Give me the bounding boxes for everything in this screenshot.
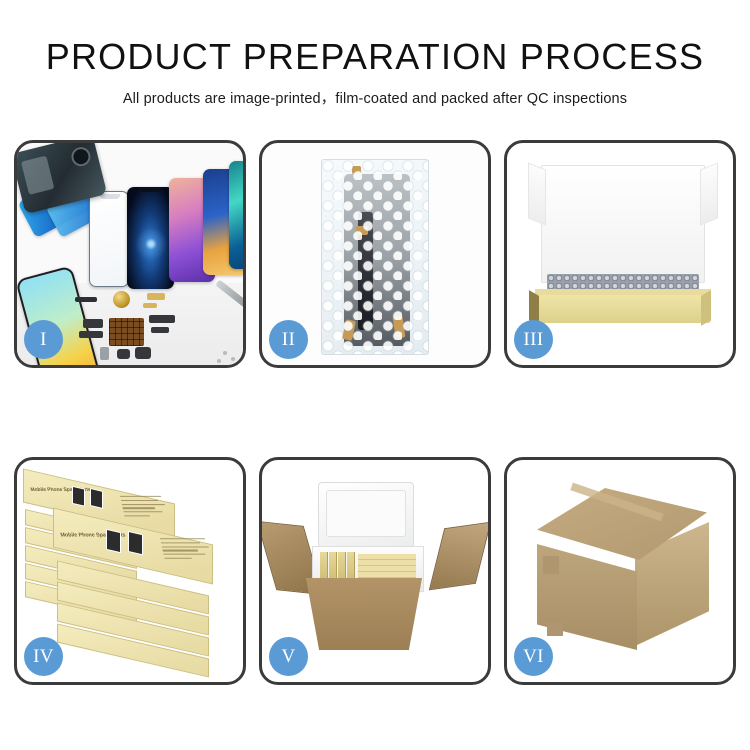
process-panel-2[interactable]: II [259, 140, 491, 368]
bubble-wrap-bag-icon [321, 159, 429, 355]
box-right-edge-icon [701, 290, 711, 326]
step-badge-4: IV [24, 637, 63, 676]
process-panel-1[interactable]: I [14, 140, 246, 368]
box-phone-image [90, 488, 103, 509]
step-badge-6: VI [514, 637, 553, 676]
flex-cable-icon [83, 319, 103, 328]
box-phone-image [128, 531, 143, 555]
box-spec-lines [120, 496, 170, 519]
logic-board-icon [109, 318, 144, 346]
process-grid: I II [14, 140, 736, 685]
yellow-box-front-icon [535, 295, 711, 323]
camera-module-icon [117, 349, 130, 359]
step-badge-1: I [24, 320, 63, 359]
flex-cable-icon [149, 315, 175, 323]
screen-protector-icon [89, 191, 129, 287]
foam-lid-icon [541, 165, 705, 283]
step-badge-3: III [514, 320, 553, 359]
carton-body-icon [298, 578, 430, 650]
step-badge-2: II [269, 320, 308, 359]
speaker-coil-icon [113, 291, 130, 308]
bubble-texture [322, 160, 428, 354]
carton-tape-icon [547, 622, 563, 636]
wallpaper-burst-icon [132, 225, 170, 263]
process-panel-6[interactable]: VI [504, 457, 736, 685]
phone-screen-teal-icon [229, 161, 246, 269]
page-title: PRODUCT PREPARATION PROCESS [0, 38, 750, 76]
phone-screen-dark-icon [127, 187, 174, 289]
step-badge-5: V [269, 637, 308, 676]
screw-icon [231, 357, 235, 361]
process-panel-4[interactable]: Mobile Phone Spare Parts Mobile Phone Sp… [14, 457, 246, 685]
vibrator-icon [135, 347, 151, 359]
box-spec-lines [160, 538, 214, 561]
process-panel-3[interactable]: III [504, 140, 736, 368]
flex-cable-icon [79, 331, 103, 338]
sim-tray-icon [100, 347, 109, 360]
earpiece-chip-icon [75, 297, 97, 302]
notch-icon [139, 187, 161, 192]
box-phone-image [106, 529, 121, 553]
carton-tape-icon [543, 556, 559, 574]
foam-lid-icon [318, 482, 414, 548]
screw-icon [223, 351, 227, 355]
gold-flex-icon [147, 293, 165, 300]
box-phone-image [72, 486, 85, 507]
carton-flap-right-icon [429, 522, 491, 591]
page-root: PRODUCT PREPARATION PROCESS All products… [0, 0, 750, 750]
gold-flex-icon [143, 303, 157, 308]
flex-cable-icon [151, 327, 169, 333]
page-header: PRODUCT PREPARATION PROCESS All products… [0, 0, 750, 108]
screw-icon [217, 359, 221, 363]
page-subtitle: All products are image-printed，film-coat… [0, 87, 750, 108]
process-panel-5[interactable]: V [259, 457, 491, 685]
